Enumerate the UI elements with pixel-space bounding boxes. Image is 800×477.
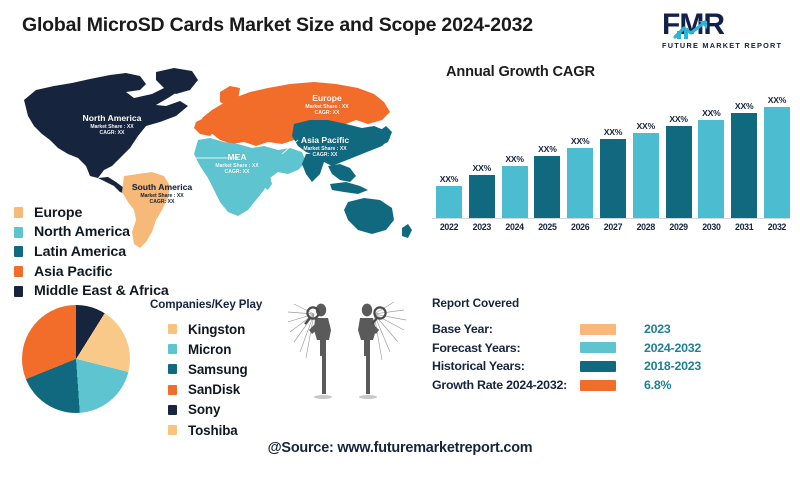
report-row-label: Growth Rate 2024-2032: (432, 378, 580, 392)
company-list-item: SanDisk (150, 380, 262, 400)
company-label: Samsung (188, 362, 248, 377)
report-row-value: 6.8% (644, 378, 671, 392)
bar-value-label: XX% (735, 101, 754, 111)
company-list-item: Samsung (150, 359, 262, 379)
chart-bar-column: XX% (731, 90, 757, 218)
legend-label: Middle East & Africa (34, 283, 169, 299)
report-covered-row: Base Year:2023 (432, 320, 772, 339)
report-row-label: Historical Years: (432, 359, 580, 373)
source-footer: @Source: www.futuremarketreport.com (0, 440, 800, 456)
company-swatch-icon (168, 344, 177, 354)
legend-label: North America (34, 224, 130, 240)
report-covered-panel: Report Covered Base Year:2023Forecast Ye… (432, 296, 772, 394)
report-row-swatch-icon (580, 324, 616, 335)
bar-value-label: XX% (669, 114, 688, 124)
company-label: Micron (188, 342, 231, 357)
chart-bar-column: XX% (633, 90, 659, 218)
map-region-indonesia (330, 182, 368, 194)
chart-bar (731, 113, 757, 218)
bar-value-label: XX% (637, 121, 656, 131)
company-label: Sony (188, 402, 220, 417)
chart-bar-column: XX% (534, 90, 560, 218)
companies-panel: Companies/Key Play KingstonMicronSamsung… (150, 298, 262, 440)
report-covered-row: Historical Years:2018-2023 (432, 357, 772, 376)
map-region-new-zealand (402, 224, 412, 238)
person-left (309, 304, 331, 394)
map-region-central-america (98, 177, 126, 194)
page-title: Global MicroSD Cards Market Size and Sco… (22, 14, 533, 37)
company-swatch-icon (168, 425, 177, 435)
company-swatch-icon (168, 364, 177, 374)
chart-bar (502, 166, 528, 218)
chart-x-tick-label: 2026 (567, 222, 593, 232)
chart-title: Annual Growth CAGR (446, 64, 595, 80)
legend-swatch-icon (14, 286, 23, 297)
region-legend-item: Middle East & Africa (14, 281, 169, 301)
report-row-swatch-icon (580, 361, 616, 372)
map-region-southeast-asia (328, 164, 356, 182)
research-people-illustration (288, 296, 408, 406)
annual-growth-chart: Annual Growth CAGR XX%XX%XX%XX%XX%XX%XX%… (428, 64, 790, 242)
bar-value-label: XX% (571, 136, 590, 146)
chart-bar (698, 120, 724, 218)
company-label: SanDisk (188, 382, 240, 397)
chart-plot-area: XX%XX%XX%XX%XX%XX%XX%XX%XX%XX%XX% (436, 90, 790, 218)
company-swatch-icon (168, 405, 177, 415)
map-region-australia (344, 198, 394, 234)
bar-value-label: XX% (604, 127, 623, 137)
chart-bar-column: XX% (698, 90, 724, 218)
company-label: Toshiba (188, 423, 238, 438)
region-legend-item: Asia Pacific (14, 262, 169, 282)
companies-title: Companies/Key Play (150, 298, 262, 311)
chart-bar-column: XX% (600, 90, 626, 218)
chart-x-tick-label: 2027 (600, 222, 626, 232)
chart-bar-column: XX% (436, 90, 462, 218)
company-swatch-icon (168, 324, 177, 334)
report-covered-row: Growth Rate 2024-2032:6.8% (432, 376, 772, 395)
chart-bar (469, 175, 495, 218)
logo-tagline: FUTURE MARKET REPORT (662, 41, 782, 50)
legend-swatch-icon (14, 227, 23, 238)
map-region-north-america (24, 73, 188, 178)
region-legend-item: North America (14, 223, 169, 243)
bar-value-label: XX% (768, 95, 787, 105)
region-legend-item: Europe (14, 203, 169, 223)
chart-bar (764, 107, 790, 218)
chart-bar-column: XX% (502, 90, 528, 218)
people-magnifier-icon (288, 296, 408, 406)
company-swatch-icon (168, 385, 177, 395)
chart-x-tick-labels: 2022202320242025202620272028202920302031… (436, 222, 790, 232)
bar-value-label: XX% (473, 163, 492, 173)
region-legend: EuropeNorth AmericaLatin AmericaAsia Pac… (14, 203, 169, 301)
report-row-swatch-icon (580, 380, 616, 391)
chart-bar (567, 148, 593, 218)
report-row-label: Forecast Years: (432, 341, 580, 355)
chart-bar-column: XX% (469, 90, 495, 218)
chart-bar-column: XX% (567, 90, 593, 218)
legend-swatch-icon (14, 266, 23, 277)
company-list-item: Kingston (150, 319, 262, 339)
chart-bar (633, 133, 659, 218)
chart-x-tick-label: 2023 (469, 222, 495, 232)
chart-x-tick-label: 2030 (698, 222, 724, 232)
chart-bar (534, 156, 560, 218)
growth-arrow-icon (673, 19, 717, 41)
report-row-label: Base Year: (432, 322, 580, 336)
bar-value-label: XX% (505, 154, 524, 164)
legend-label: Latin America (34, 244, 126, 260)
report-row-value: 2024-2032 (644, 341, 701, 355)
chart-bar (666, 126, 692, 218)
bar-value-label: XX% (440, 174, 459, 184)
chart-x-tick-label: 2024 (502, 222, 528, 232)
chart-x-axis (432, 218, 790, 219)
legend-label: Asia Pacific (34, 264, 112, 280)
chart-bars: XX%XX%XX%XX%XX%XX%XX%XX%XX%XX%XX% (436, 90, 790, 218)
chart-bar (600, 139, 626, 218)
chart-x-tick-label: 2028 (633, 222, 659, 232)
report-row-value: 2018-2023 (644, 359, 701, 373)
legend-label: Europe (34, 205, 82, 221)
market-share-pie-chart (22, 305, 130, 413)
bar-value-label: XX% (702, 108, 721, 118)
chart-x-tick-label: 2029 (666, 222, 692, 232)
company-list-item: Toshiba (150, 420, 262, 440)
chart-bar-column: XX% (764, 90, 790, 218)
companies-list: KingstonMicronSamsungSanDiskSonyToshiba (150, 319, 262, 440)
bar-value-label: XX% (538, 144, 557, 154)
report-covered-rows: Base Year:2023Forecast Years:2024-2032Hi… (432, 320, 772, 394)
company-list-item: Micron (150, 339, 262, 359)
region-legend-item: Latin America (14, 242, 169, 262)
chart-x-tick-label: 2032 (764, 222, 790, 232)
map-region-mea (194, 138, 306, 216)
report-covered-title: Report Covered (432, 296, 772, 310)
legend-swatch-icon (14, 207, 23, 218)
chart-bar (436, 186, 462, 218)
map-region-india (302, 154, 324, 182)
chart-x-tick-label: 2031 (731, 222, 757, 232)
fmr-logo: FMR FUTURE MARKET REPORT (662, 10, 782, 54)
chart-x-tick-label: 2025 (534, 222, 560, 232)
infographic-root: Global MicroSD Cards Market Size and Sco… (0, 0, 800, 477)
report-row-value: 2023 (644, 322, 671, 336)
company-label: Kingston (188, 322, 245, 337)
company-list-item: Sony (150, 400, 262, 420)
report-covered-row: Forecast Years:2024-2032 (432, 339, 772, 358)
legend-swatch-icon (14, 246, 23, 257)
chart-bar-column: XX% (666, 90, 692, 218)
chart-x-tick-label: 2022 (436, 222, 462, 232)
report-row-swatch-icon (580, 342, 616, 353)
